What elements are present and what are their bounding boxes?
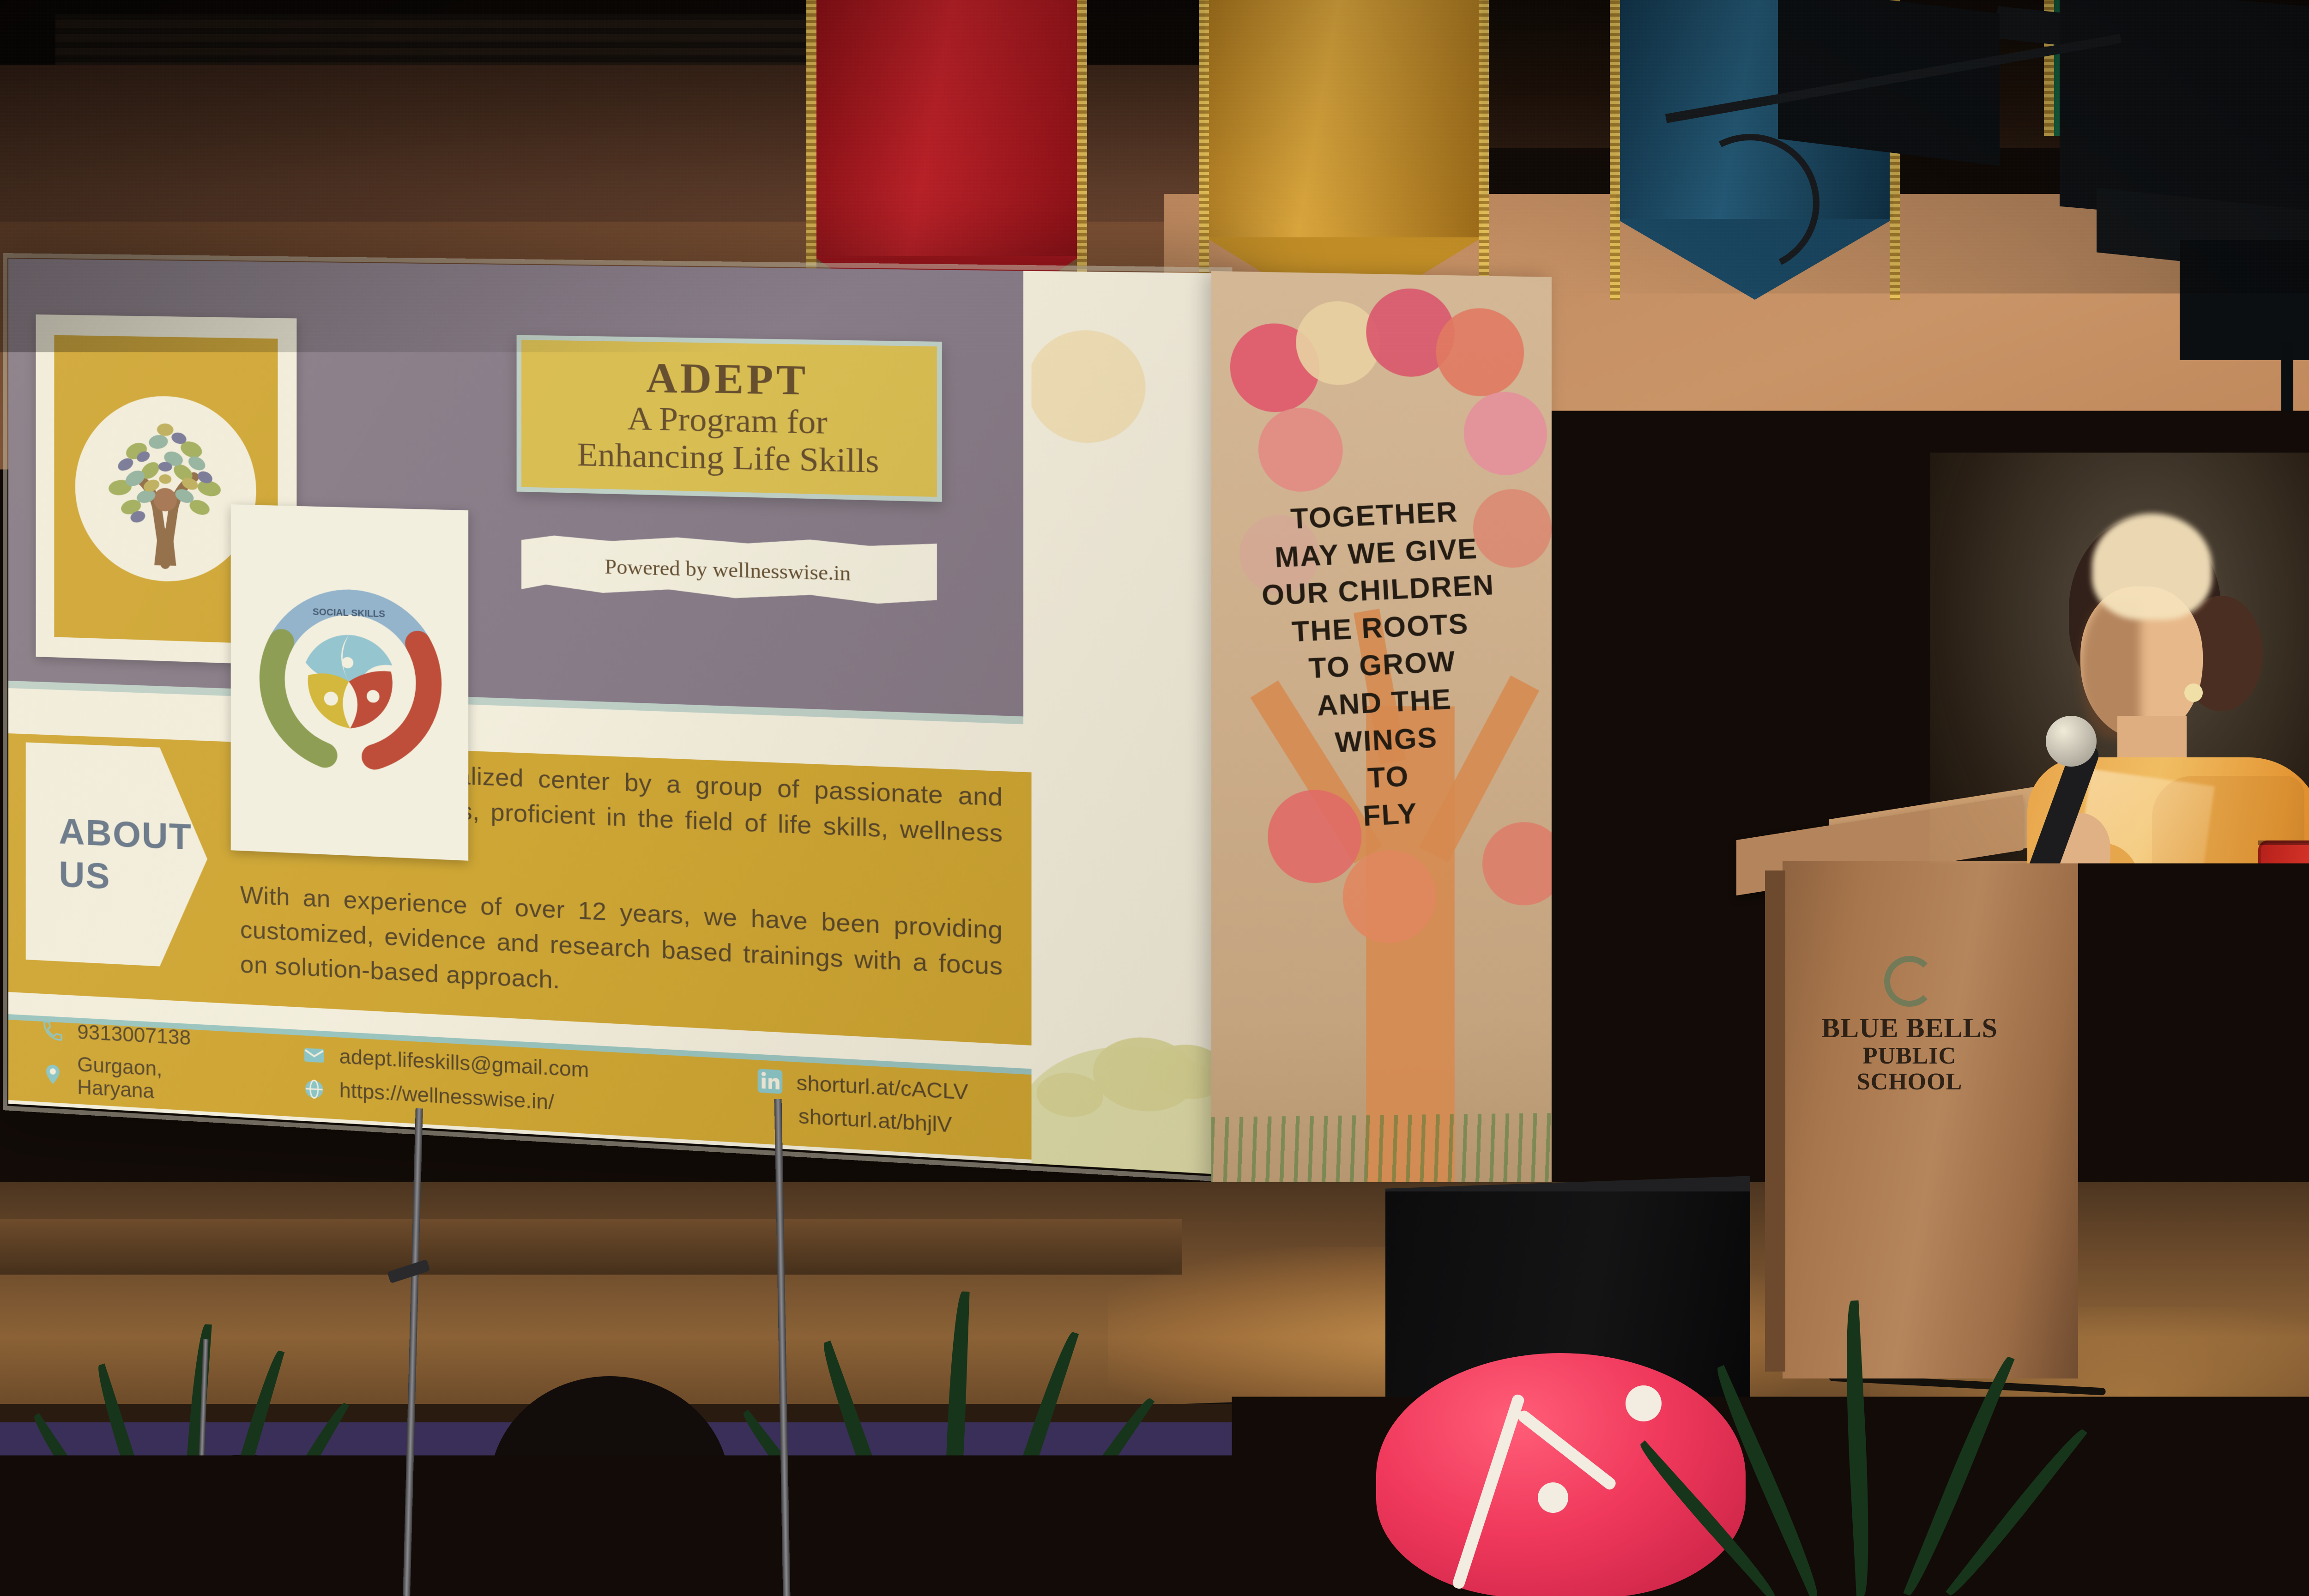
mural-handprint-11 (1482, 822, 1552, 906)
contact-website: https://wellnesswise.in/ (339, 1079, 554, 1115)
photo-scene: SOCIAL SKILLS ADEPT A Program for Enhanc… (0, 0, 2309, 1596)
plant-leaf (1841, 1300, 1874, 1596)
about-paragraph-2: With an experience of over 12 years, we … (240, 878, 1003, 1021)
social-skills-wheel-card: SOCIAL SKILLS (231, 504, 468, 861)
podium-nameplate: BLUE BELLS PUBLIC SCHOOL (1810, 956, 2009, 1104)
about-label-line1: ABOUT (59, 810, 192, 858)
apron-shape-9 (1182, 1501, 1275, 1596)
mural-handprint-5 (1464, 391, 1547, 475)
slide-title-box: ADEPT A Program for Enhancing Life Skill… (517, 335, 942, 502)
plant-leaf (1903, 1353, 2014, 1596)
painted-tree-mural: TOGETHER MAY WE GIVE OUR CHILDREN THE RO… (1211, 271, 1552, 1267)
podium-school-name: BLUE BELLS PUBLIC SCHOOL (1810, 1013, 2009, 1095)
globe-icon (302, 1076, 327, 1103)
contact-column-1: 9313007138 Gurgaon, Haryana (41, 1017, 302, 1112)
presenter-bangle (2217, 1062, 2277, 1082)
plant-leaf (1710, 1365, 1825, 1596)
slide-subtitle-line1: A Program for (628, 400, 828, 441)
email-icon (302, 1042, 327, 1069)
presenter-hair-highlight (2092, 514, 2212, 620)
contact-column-2: adept.lifeskills@gmail.com https://welln… (302, 1042, 757, 1127)
wheel-logo-plate: SOCIAL SKILLS (248, 526, 451, 839)
mural-handprint-4 (1436, 308, 1524, 397)
contact-linkedin-row-2: shorturl.at/bhjlV (756, 1102, 1059, 1143)
podium-name-line2: PUBLIC SCHOOL (1810, 1043, 2009, 1095)
presenter-person (2000, 517, 2309, 1358)
contact-location-row: Gurgaon, Haryana (41, 1051, 302, 1112)
plant-leaf (984, 1329, 1079, 1580)
plant-leaf (816, 1341, 916, 1580)
presentation-slide: SOCIAL SKILLS ADEPT A Program for Enhanc… (8, 259, 1223, 1175)
apron-shape-10 (1275, 1501, 1385, 1596)
bag-cord-bead (1538, 1482, 1568, 1513)
slide-landscape-illustration (1032, 271, 1223, 1175)
illustration-sun (1032, 329, 1146, 444)
audience-head-2 (490, 1376, 730, 1596)
contact-linkedin-1: shorturl.at/cACLV (797, 1071, 968, 1104)
contact-phone-row: 9313007138 (41, 1017, 302, 1057)
plant-leaf (942, 1291, 970, 1578)
stage-light-stem (2281, 342, 2293, 416)
mural-handprint-10 (1343, 850, 1436, 943)
linkedin-icon (756, 1068, 783, 1095)
podium-logo-icon (1884, 956, 1935, 1007)
contact-column-3: shorturl.at/cACLV shorturl.at/bhjlV (756, 1068, 1059, 1143)
mural-handprint-6 (1258, 407, 1343, 492)
projection-screen: SOCIAL SKILLS ADEPT A Program for Enhanc… (8, 259, 1223, 1175)
microphone-head-icon (2046, 716, 2097, 767)
apron-shape-3 (743, 1501, 799, 1596)
presenter-earring (2184, 683, 2203, 702)
contact-linkedin-row: shorturl.at/cACLV (756, 1068, 1059, 1111)
podium-name-line1: BLUE BELLS (1810, 1013, 2009, 1043)
social-skills-wheel-icon: SOCIAL SKILLS (254, 535, 445, 830)
pink-drawstring-bag (1376, 1353, 1746, 1596)
phone-icon (41, 1017, 66, 1044)
foreground-plant-right (1718, 1180, 2004, 1596)
bag-cord-knot (1626, 1385, 1662, 1421)
contact-email: adept.lifeskills@gmail.com (339, 1045, 589, 1082)
contact-location: Gurgaon, Haryana (77, 1053, 162, 1104)
slide-subtitle-line2: Enhancing Life Skills (577, 436, 879, 481)
foreground-plant-mid (804, 1162, 1099, 1578)
contact-linkedin-2: shorturl.at/bhjlV (798, 1105, 952, 1137)
about-label-line2: US (59, 852, 110, 898)
mural-quote: TOGETHER MAY WE GIVE OUR CHILDREN THE RO… (1211, 490, 1552, 843)
location-pin-icon (41, 1061, 66, 1088)
contact-phone: 9313007138 (77, 1021, 191, 1050)
slide-title: ADEPT (646, 357, 809, 404)
foreground-plant-left (65, 1203, 323, 1554)
